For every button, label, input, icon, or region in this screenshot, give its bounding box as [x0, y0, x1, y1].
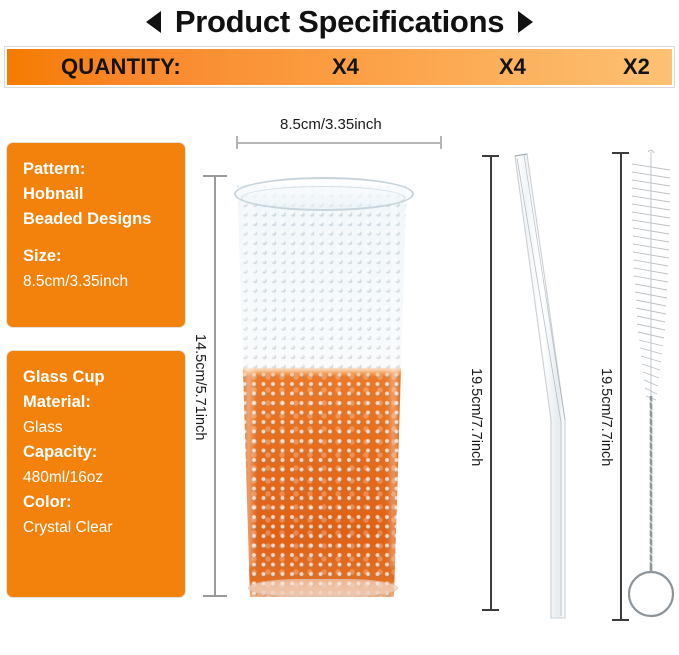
straw-length-line: [490, 155, 492, 610]
brush-length-cap-top: [612, 152, 629, 154]
capacity-value: 480ml/16oz: [23, 465, 185, 490]
straw-tube: [515, 154, 565, 618]
straw-length-cap-bottom: [482, 609, 499, 611]
cup-width-cap-right: [440, 136, 442, 149]
glass-cup-box: Glass Cup Material: Glass Capacity: 480m…: [6, 350, 186, 598]
pattern-value-1: Hobnail: [23, 182, 185, 207]
cup-height-cap-bottom: [203, 595, 227, 597]
hobnail-glass-cup: [232, 172, 412, 597]
pattern-value-2: Beaded Designs: [23, 207, 185, 232]
bent-glass-straw: [505, 152, 585, 622]
cleaning-brush: [628, 148, 674, 648]
size-value: 8.5cm/3.35inch: [23, 269, 185, 294]
color-title: Color:: [23, 490, 185, 515]
straw-length-cap-top: [482, 155, 499, 157]
cup-width-label: 8.5cm/3.35inch: [280, 116, 382, 133]
glass-hobnail-highlights: [232, 172, 412, 597]
brush-length-line: [620, 152, 622, 620]
material-value: Glass: [23, 415, 185, 440]
page-title: Product Specifications: [175, 4, 504, 40]
glass-highlight-left: [246, 193, 256, 567]
pattern-box: Pattern: Hobnail Beaded Designs Size: 8.…: [6, 142, 186, 328]
brush-loop-handle: [629, 572, 673, 616]
pattern-title: Pattern:: [23, 157, 185, 182]
quantity-label: QUANTITY:: [61, 54, 181, 80]
brush-bristles: [632, 150, 670, 400]
cup-height-label: 14.5cm/5.71inch: [192, 334, 208, 440]
straw-illustration: [505, 152, 585, 622]
cup-width-line: [236, 142, 442, 144]
brush-length-cap-bottom: [612, 619, 629, 621]
quantity-bar-gradient: QUANTITY: X4 X4 X2: [7, 49, 672, 85]
glass-highlight-right: [387, 193, 396, 567]
straw-outer-edge: [524, 155, 565, 420]
glass-base: [248, 579, 398, 597]
size-title: Size:: [23, 244, 185, 269]
cup-width-cap-left: [236, 136, 238, 149]
triangle-right-icon: [518, 11, 533, 33]
straw-length-label: 19.5cm/7.7inch: [468, 368, 484, 466]
glass-rim-inner: [241, 186, 405, 210]
material-title: Material:: [23, 390, 185, 415]
capacity-title: Capacity:: [23, 440, 185, 465]
color-value: Crystal Clear: [23, 515, 185, 540]
brush-length-label: 19.5cm/7.7inch: [598, 368, 614, 466]
page-header: Product Specifications: [0, 0, 679, 44]
quantity-value-brush: X2: [623, 54, 650, 80]
quantity-value-cup: X4: [332, 54, 359, 80]
glass-liquid-surface: [243, 369, 401, 376]
cup-height-line: [214, 175, 216, 597]
quantity-value-straw: X4: [499, 54, 526, 80]
quantity-bar: QUANTITY: X4 X4 X2: [4, 46, 675, 88]
triangle-left-icon: [146, 11, 161, 33]
brush-illustration: [628, 148, 674, 648]
brush-wire-handle: [629, 396, 673, 616]
glass-cup-title: Glass Cup: [23, 365, 185, 390]
cup-height-cap-top: [203, 175, 227, 177]
